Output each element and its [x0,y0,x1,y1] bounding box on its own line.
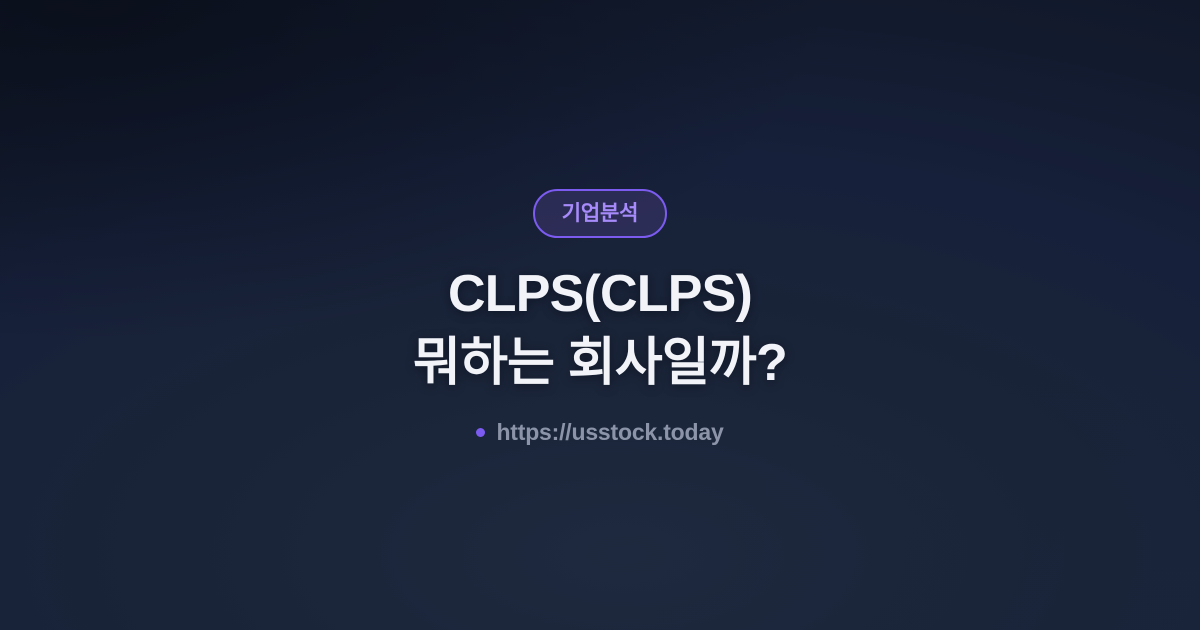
page-title-line-2: 뭐하는 회사일까? [413,329,787,398]
bullet-dot-icon [476,428,485,437]
page-title: CLPS(CLPS) 뭐하는 회사일까? [413,260,787,397]
site-url-label: https://usstock.today [496,421,723,444]
category-badge: 기업분석 [533,189,667,238]
site-url-row: https://usstock.today [476,421,723,444]
og-share-card: 기업분석 CLPS(CLPS) 뭐하는 회사일까? https://usstoc… [0,0,1200,630]
card-content: 기업분석 CLPS(CLPS) 뭐하는 회사일까? https://usstoc… [0,0,1200,444]
page-title-line-1: CLPS(CLPS) [413,260,787,329]
